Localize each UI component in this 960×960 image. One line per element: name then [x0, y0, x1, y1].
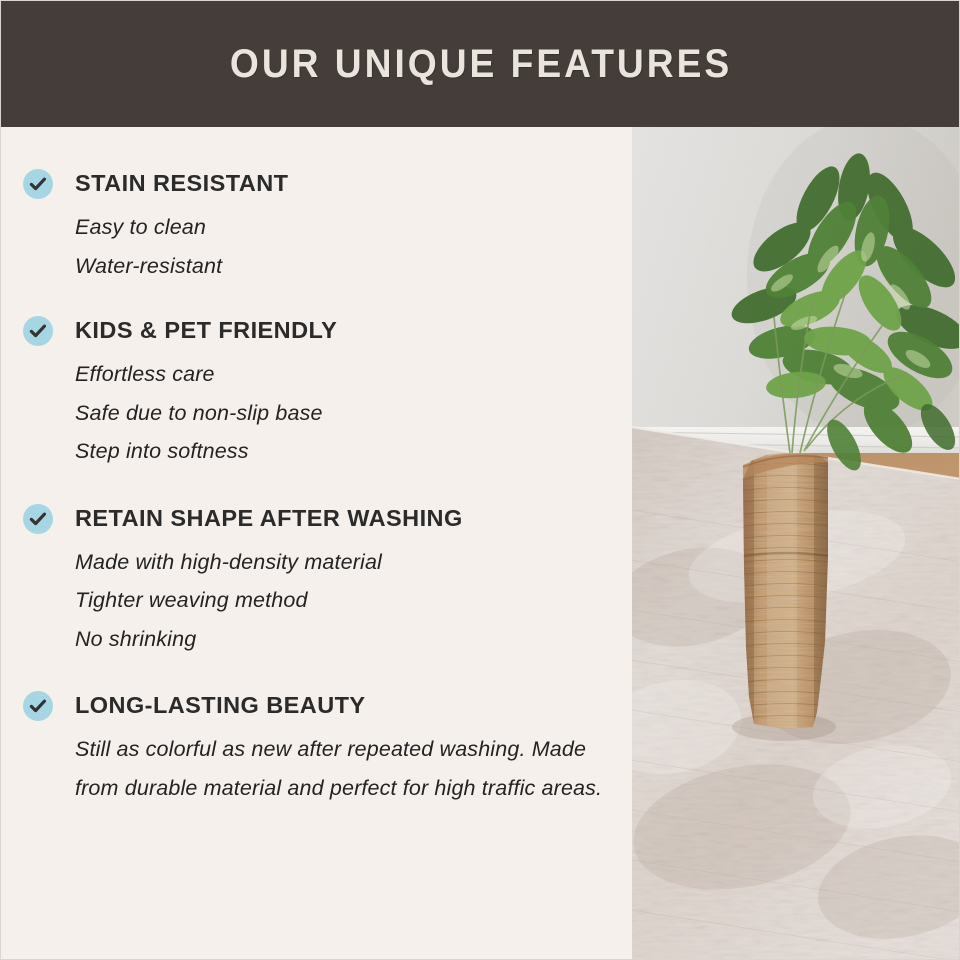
feature-header: RETAIN SHAPE AFTER WASHING	[23, 504, 612, 534]
room-photo	[632, 127, 960, 960]
feature-line: Water-resistant	[75, 247, 612, 286]
feature-lines: Easy to clean Water-resistant	[23, 208, 612, 285]
feature-title: LONG-LASTING BEAUTY	[75, 694, 366, 718]
feature-line: Tighter weaving method	[75, 581, 612, 620]
page-title: OUR UNIQUE FEATURES	[230, 42, 732, 87]
feature-line: Safe due to non-slip base	[75, 394, 612, 433]
feature-line: Made with high-density material	[75, 543, 612, 582]
feature-line: Effortless care	[75, 355, 612, 394]
feature-line: Easy to clean	[75, 208, 612, 247]
check-circle-icon	[23, 504, 53, 534]
feature-block: KIDS & PET FRIENDLY Effortless care Safe…	[23, 316, 612, 471]
feature-block: STAIN RESISTANT Easy to clean Water-resi…	[23, 169, 612, 285]
feature-line: No shrinking	[75, 620, 612, 659]
feature-block: LONG-LASTING BEAUTY Still as colorful as…	[23, 691, 612, 807]
feature-block: RETAIN SHAPE AFTER WASHING Made with hig…	[23, 504, 612, 659]
features-panel: STAIN RESISTANT Easy to clean Water-resi…	[1, 127, 632, 960]
feature-line: Still as colorful as new after repeated …	[75, 730, 612, 807]
feature-header: LONG-LASTING BEAUTY	[23, 691, 612, 721]
feature-header: STAIN RESISTANT	[23, 169, 612, 199]
feature-title: KIDS & PET FRIENDLY	[75, 319, 337, 343]
feature-lines: Still as colorful as new after repeated …	[23, 730, 612, 807]
check-circle-icon	[23, 316, 53, 346]
feature-infographic: OUR UNIQUE FEATURES STAIN RESISTANT Easy…	[0, 0, 960, 960]
check-circle-icon	[23, 169, 53, 199]
feature-title: STAIN RESISTANT	[75, 172, 288, 196]
feature-line: Step into softness	[75, 432, 612, 471]
feature-title: RETAIN SHAPE AFTER WASHING	[75, 507, 463, 531]
check-circle-icon	[23, 691, 53, 721]
header-bar: OUR UNIQUE FEATURES	[1, 1, 960, 127]
feature-header: KIDS & PET FRIENDLY	[23, 316, 612, 346]
feature-lines: Made with high-density material Tighter …	[23, 543, 612, 659]
feature-lines: Effortless care Safe due to non-slip bas…	[23, 355, 612, 471]
